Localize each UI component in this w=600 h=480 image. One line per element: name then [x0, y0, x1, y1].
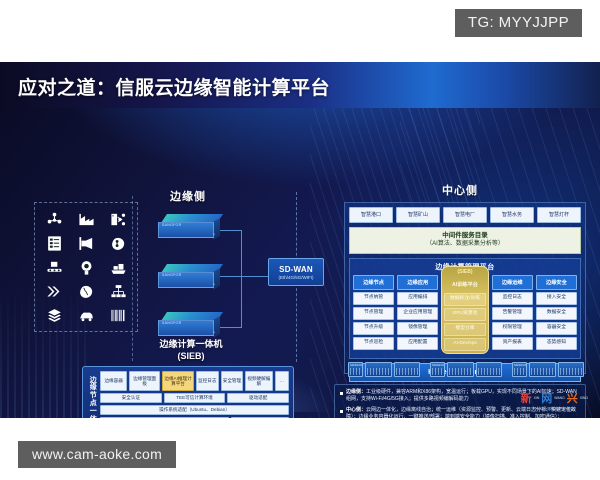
item-app-orchestrate[interactable]: 应用编排: [397, 292, 438, 305]
edge-node-vertical-label: 边缘节点一体机: [87, 371, 100, 418]
bullet-label-edge: 边缘侧：: [346, 389, 366, 395]
item-sec-data[interactable]: 数据安全: [536, 307, 577, 320]
center-side-header: 中心侧: [442, 182, 478, 198]
slide-title-bar: 应对之道：信服云边缘智能计算平台: [0, 62, 600, 108]
sdwan-title: SD-WAN: [279, 265, 313, 274]
item-app-image[interactable]: 镜像管理: [397, 322, 438, 335]
bullet-square-icon-1: [340, 392, 343, 395]
platform-column-edge-node: 边缘节点 节点纳管 节点管理 节点升级 节点巡检: [353, 275, 394, 350]
rack-unit-2a: SANGFOR: [430, 362, 445, 377]
edge-compute-platform-block: 边缘计算管理平台 边缘节点 节点纳管 节点管理 节点升级 节点巡检 边缘应用 应…: [349, 258, 581, 359]
scenario-chip-water[interactable]: 智慧水务: [490, 207, 534, 223]
server-indicator-3: ▪▪: [213, 330, 215, 334]
column-head-edge-node[interactable]: 边缘节点: [353, 275, 394, 290]
connector-line-3: [220, 327, 242, 328]
item-node-manage[interactable]: 节点管理: [353, 307, 394, 320]
item-node-inspect[interactable]: 节点巡检: [353, 337, 394, 350]
item-sec-container[interactable]: 容器安全: [536, 322, 577, 335]
camera-icon: [70, 255, 102, 279]
column-head-edge-app[interactable]: 边缘应用: [397, 275, 438, 290]
column-head-ai-training[interactable]: AI训练平台: [444, 278, 485, 291]
edge-server-3: SANGFOR ▪▪: [158, 312, 220, 337]
column-head-edge-security[interactable]: 边缘安全: [536, 275, 577, 290]
rack-unit-1b: [365, 362, 391, 377]
server-indicator-2: ▪▪: [213, 282, 215, 286]
connector-line-2: [220, 276, 268, 277]
bullet-label-center: 中心侧：: [346, 407, 366, 413]
edge-node-row-2: 安全认证 TEE可信计算环境 驱动适配: [100, 393, 289, 403]
event-logo-char-1: 新: [521, 390, 532, 406]
chevrons-icon: [38, 279, 70, 303]
item-ai-gpu-pool[interactable]: GPU资源池: [444, 308, 485, 321]
edge-node-cell-mgmt-panel[interactable]: 边缘管理面板: [129, 371, 160, 391]
rack-unit-1a: SANGFOR: [348, 362, 363, 377]
cargo-ship-icon: [102, 255, 134, 279]
sieb-caption-line1: 边缘计算一体机: [148, 338, 234, 350]
slide-canvas: 应对之道：信服云边缘智能计算平台 边缘侧 中心侧 SANGFOR ▪▪ SANG…: [0, 62, 600, 418]
server-indicator-1: ▪▪: [213, 232, 215, 236]
scenario-chip-port[interactable]: 智慧港口: [349, 207, 393, 223]
edge-node-cell-ai-platform[interactable]: 边缘AI推理计算平台: [162, 371, 194, 391]
item-sec-awareness[interactable]: 态势感知: [536, 337, 577, 350]
item-ai-model-repo[interactable]: 模型仓库: [444, 323, 485, 336]
brain-icon: [70, 279, 102, 303]
middleware-subtitle: （AI算法、数据采集分析等）: [350, 240, 580, 248]
middleware-title: 中间件服务目录: [350, 232, 580, 241]
item-node-upgrade[interactable]: 节点升级: [353, 322, 394, 335]
ai-head-chip-icon: [102, 231, 134, 255]
rack-group-3: SANGFOR: [512, 362, 584, 377]
sieb-caption: 边缘计算一体机 (SIEB): [148, 338, 234, 362]
sdwan-detail: (Eth/4G/5G/WIFI): [278, 275, 313, 280]
edge-node-cell-video-codec[interactable]: 视频硬解编解: [245, 371, 272, 391]
scenario-chip-mine[interactable]: 智慧矿山: [396, 207, 440, 223]
item-ops-alarm[interactable]: 告警管理: [492, 307, 533, 320]
event-logo-char-1-sub: XIN: [534, 396, 540, 400]
connector-line-1: [220, 230, 242, 231]
edge-node-row-1: 边缘容器 边缘管理面板 边缘AI推理计算平台 监控日志 安全管理 视频硬解编解 …: [100, 371, 289, 391]
edge-node-cell-monitor-log[interactable]: 监控日志: [196, 371, 219, 391]
event-logo-char-3: 兴: [567, 390, 578, 406]
rack-group-1: SANGFOR: [348, 362, 420, 377]
event-logo-subtitle: 2021全球宽带产业峰会: [521, 407, 588, 412]
industry-icon-grid: [34, 202, 138, 332]
connector-bus: [241, 230, 242, 328]
edge-node-cell-driver[interactable]: 驱动适配: [227, 393, 289, 403]
edge-node-appliance-box: 边缘节点一体机 边缘容器 边缘管理面板 边缘AI推理计算平台 监控日志 安全管理…: [82, 366, 294, 418]
item-ops-monitor[interactable]: 监控日志: [492, 292, 533, 305]
rack-unit-3c: [558, 362, 584, 377]
gold-column-caption: (SIEB): [444, 269, 485, 275]
rack-unit-3a: SANGFOR: [512, 362, 527, 377]
rack-unit-2b: [447, 362, 473, 377]
item-app-config[interactable]: 应用配置: [397, 337, 438, 350]
platform-column-ai-training: (SIEB) AI训练平台 数据标注/训练 GPU资源池 模型仓库 AI-Dev…: [441, 266, 488, 354]
projector-icon: [70, 231, 102, 255]
event-logo: 新 XIN 网 WANG 兴 XING 2021全球宽带产业峰会: [521, 390, 588, 412]
edge-server-2: SANGFOR ▪▪: [158, 264, 220, 289]
edge-node-cell-auth[interactable]: 安全认证: [100, 393, 162, 403]
barcode-icon: [102, 303, 134, 327]
item-node-onboard[interactable]: 节点纳管: [353, 292, 394, 305]
edge-node-cell-hardware[interactable]: 硬件适配（arm/x86、NVIDIA/BM/寒武纪）: [100, 417, 229, 418]
edge-side-header: 边缘侧: [170, 188, 206, 204]
edge-node-cell-container[interactable]: 边缘容器: [100, 371, 127, 391]
item-ops-asset[interactable]: 资产报表: [492, 337, 533, 350]
item-ops-perm[interactable]: 权限管理: [492, 322, 533, 335]
checklist-icon: [38, 231, 70, 255]
platform-column-edge-security: 边缘安全 接入安全 数据安全 容器安全 态势感知: [536, 275, 577, 350]
edge-server-1: SANGFOR ▪▪: [158, 214, 220, 239]
layers-icon: [38, 303, 70, 327]
edge-node-row-4: 硬件适配（arm/x86、NVIDIA/BM/寒武纪） 各类I/O接口: [100, 417, 289, 418]
item-ai-labeling[interactable]: 数据标注/训练: [444, 293, 485, 306]
bullet-square-icon-2: [340, 410, 343, 413]
scenario-chip-powerplant[interactable]: 智慧电厂: [443, 207, 487, 223]
conveyor-icon: [38, 255, 70, 279]
platform-column-edge-app: 边缘应用 应用编排 企业应用管理 镜像管理 应用配置: [397, 275, 438, 350]
scenario-chip-lamppost[interactable]: 智慧灯杆: [537, 207, 581, 223]
item-ai-devops[interactable]: AI-DevOps: [444, 338, 485, 351]
middleware-catalog-block: 中间件服务目录 （AI算法、数据采集分析等）: [349, 227, 581, 255]
rack-group-2: SANGFOR: [430, 362, 502, 377]
edge-node-cell-io[interactable]: 各类I/O接口: [231, 417, 289, 418]
slide-title: 应对之道：信服云边缘智能计算平台: [18, 73, 330, 100]
edge-node-cell-more[interactable]: …: [275, 371, 289, 391]
scenario-chip-row: 智慧港口 智慧矿山 智慧电厂 智慧水务 智慧灯杆: [349, 207, 581, 223]
platform-columns: 边缘节点 节点纳管 节点管理 节点升级 节点巡检 边缘应用 应用编排 企业应用管…: [353, 275, 577, 354]
edge-node-cell-os[interactable]: 操作系统适配（Ubuntu、Debian）: [100, 405, 289, 415]
item-sec-access[interactable]: 接入安全: [536, 292, 577, 305]
org-chart-icon: [102, 279, 134, 303]
rack-unit-2c: [476, 362, 502, 377]
sieb-caption-line2: (SIEB): [148, 350, 234, 362]
server-brand-label-2: SANGFOR: [162, 273, 181, 277]
edge-node-cell-security[interactable]: 安全管理: [221, 371, 244, 391]
rack-unit-3b: [529, 362, 555, 377]
network-share-icon: [102, 207, 134, 231]
event-logo-chars: 新 XIN 网 WANG 兴 XING: [521, 390, 588, 406]
tg-watermark-badge: TG: MYYJJPP: [455, 9, 582, 37]
molecule-icon: [38, 207, 70, 231]
edge-node-row-3: 操作系统适配（Ubuntu、Debian）: [100, 405, 289, 415]
platform-column-edge-ops: 边缘运维 监控日志 告警管理 权限管理 资产报表: [492, 275, 533, 350]
site-url-watermark: www.cam-aoke.com: [18, 441, 176, 468]
server-brand-label-3: SANGFOR: [162, 321, 181, 325]
item-app-enterprise[interactable]: 企业应用管理: [397, 307, 438, 320]
server-brand-label-1: SANGFOR: [162, 223, 181, 227]
event-logo-char-3-sub: XING: [580, 396, 588, 400]
server-rack-row: SANGFOR SANGFOR SANGFOR: [348, 362, 584, 377]
factory-icon: [70, 207, 102, 231]
sdwan-node[interactable]: SD-WAN (Eth/4G/5G/WIFI): [268, 258, 324, 286]
rack-unit-1c: [394, 362, 420, 377]
edge-node-cell-tee[interactable]: TEE可信计算环境: [164, 393, 226, 403]
center-side-panel: 智慧港口 智慧矿山 智慧电厂 智慧水务 智慧灯杆 中间件服务目录 （AI算法、数…: [344, 202, 586, 374]
column-head-edge-ops[interactable]: 边缘运维: [492, 275, 533, 290]
car-icon: [70, 303, 102, 327]
event-logo-char-2-sub: WANG: [554, 396, 564, 400]
event-logo-char-2: 网: [541, 390, 552, 406]
